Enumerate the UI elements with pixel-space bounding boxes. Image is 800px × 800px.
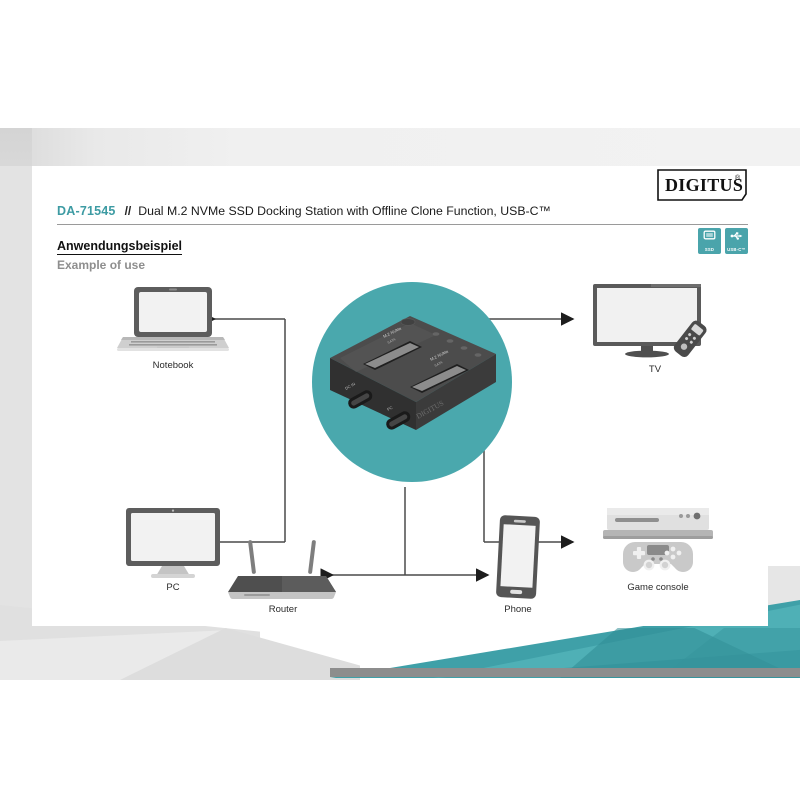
node-label-phone: Phone	[466, 604, 570, 615]
left-page-edge-top	[0, 128, 32, 203]
use-case-diagram: M.2 NVMe SATA M.2 NVMe SATA	[32, 274, 768, 626]
node-tv: TV	[585, 282, 725, 375]
gamepad-icon	[623, 542, 693, 572]
right-page-edge	[768, 566, 800, 626]
teal-swoosh-shadow-2	[600, 628, 800, 678]
node-game-console: Game console	[584, 502, 732, 593]
ssd-icon	[703, 230, 716, 246]
usb-c-badge: USB-C™	[725, 228, 748, 254]
node-phone: Phone	[466, 514, 570, 615]
ssd-badge: SSD	[698, 228, 721, 254]
logo-registered-mark: ®	[735, 174, 741, 182]
node-label-pc: PC	[117, 582, 229, 593]
product-description: Dual M.2 NVMe SSD Docking Station with O…	[138, 204, 551, 218]
left-page-edge	[0, 166, 32, 626]
product-title-line: DA-71545 // Dual M.2 NVMe SSD Docking St…	[57, 204, 748, 218]
smartphone-icon	[494, 514, 542, 600]
node-notebook: Notebook	[108, 284, 238, 371]
laptop-icon	[117, 284, 229, 356]
monitor-icon	[124, 506, 222, 578]
usb-c-icon	[730, 230, 744, 246]
router-icon	[224, 538, 342, 600]
feature-badges: SSD USB-C™	[698, 228, 748, 254]
node-label-game-console: Game console	[584, 582, 732, 593]
node-router: Router	[216, 538, 350, 615]
node-pc: PC	[117, 506, 229, 593]
usb-c-badge-label: USB-C™	[727, 247, 746, 252]
node-label-router: Router	[216, 604, 350, 615]
docking-station: M.2 NVMe SATA M.2 NVMe SATA	[318, 302, 508, 457]
bottom-left-wedge-2	[0, 630, 360, 680]
teal-swoosh-shadow	[560, 628, 800, 678]
node-label-notebook: Notebook	[108, 360, 238, 371]
logo-wordmark: DIGITUS	[665, 175, 743, 195]
top-left-grey-band	[0, 128, 800, 166]
section-heading-en: Example of use	[57, 258, 145, 272]
digitus-logo: DIGITUS ®	[656, 166, 748, 204]
bottom-left-wedge-3	[120, 628, 360, 680]
product-code: DA-71545	[57, 204, 116, 218]
bottom-grey-strip	[330, 668, 800, 677]
node-label-tv: TV	[585, 364, 725, 375]
game-console-icon	[597, 502, 719, 578]
ssd-badge-label: SSD	[705, 247, 714, 252]
title-separator: //	[125, 204, 132, 218]
section-heading-de: Anwendungsbeispiel	[57, 239, 182, 255]
page-root: DIGITUS ® DA-71545 // Dual M.2 NVMe SSD …	[0, 0, 800, 800]
content-card: DIGITUS ® DA-71545 // Dual M.2 NVMe SSD …	[32, 166, 768, 626]
header-divider	[57, 224, 748, 225]
tv-icon	[591, 282, 719, 360]
